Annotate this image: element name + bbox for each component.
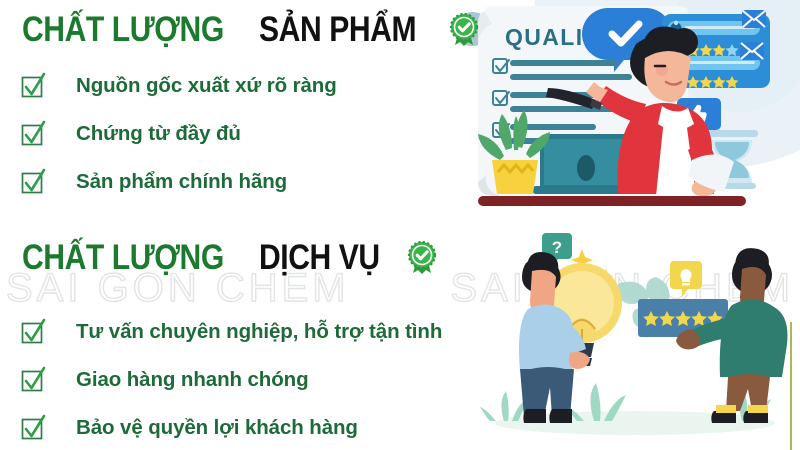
checkbox-check-icon bbox=[18, 413, 48, 443]
quality-checklist-woman-illustration: QUALITY bbox=[440, 0, 800, 222]
checkbox-check-icon bbox=[18, 71, 48, 101]
heading-green-text: CHẤT LƯỢNG bbox=[22, 12, 224, 47]
service-handshake-rating-illustration: ? bbox=[470, 225, 800, 450]
section-heading-product-quality: CHẤT LƯỢNG SẢN PHẨM bbox=[22, 12, 481, 47]
checkbox-check-icon bbox=[18, 365, 48, 395]
checkbox-check-icon bbox=[18, 167, 48, 197]
list-item-label: Nguồn gốc xuất xứ rõ ràng bbox=[76, 74, 337, 98]
heading-black-text: SẢN PHẨM bbox=[259, 12, 416, 47]
award-check-badge-icon bbox=[447, 13, 481, 47]
feature-list-service-quality: Tư vấn chuyên nghiệp, hỗ trợ tận tình Gi… bbox=[18, 308, 442, 450]
list-item-label: Chứng từ đầy đủ bbox=[76, 122, 241, 146]
feature-list-product-quality: Nguồn gốc xuất xứ rõ ràng Chứng từ đầy đ… bbox=[18, 62, 337, 206]
promo-banner: SAI GON CHEM SAI GON CHEM QUALITY bbox=[0, 0, 800, 450]
list-item-label: Giao hàng nhanh chóng bbox=[76, 368, 309, 392]
list-item: Sản phẩm chính hãng bbox=[18, 158, 337, 206]
heading-black-text: DỊCH VỤ bbox=[259, 240, 380, 275]
content-column: CHẤT LƯỢNG SẢN PHẨM Nguồn gốc xuất xứ rõ… bbox=[0, 0, 470, 450]
list-item-label: Sản phẩm chính hãng bbox=[76, 170, 287, 194]
list-item: Chứng từ đầy đủ bbox=[18, 110, 337, 158]
section-heading-service-quality: CHẤT LƯỢNG DỊCH VỤ bbox=[22, 240, 439, 275]
checkbox-check-icon bbox=[18, 119, 48, 149]
list-item: Tư vấn chuyên nghiệp, hỗ trợ tận tình bbox=[18, 308, 442, 356]
heading-green-text: CHẤT LƯỢNG bbox=[22, 240, 224, 275]
list-item-label: Tư vấn chuyên nghiệp, hỗ trợ tận tình bbox=[76, 320, 442, 344]
svg-text:?: ? bbox=[552, 238, 562, 257]
list-item-label: Bảo vệ quyền lợi khách hàng bbox=[76, 416, 358, 440]
checkbox-check-icon bbox=[18, 317, 48, 347]
envelope-icon-1 bbox=[742, 10, 766, 28]
list-item: Bảo vệ quyền lợi khách hàng bbox=[18, 404, 442, 450]
award-check-badge-icon bbox=[405, 241, 439, 275]
envelope-icon-2 bbox=[740, 42, 764, 60]
list-item: Nguồn gốc xuất xứ rõ ràng bbox=[18, 62, 337, 110]
idea-bubble-icon bbox=[670, 261, 702, 296]
list-item: Giao hàng nhanh chóng bbox=[18, 356, 442, 404]
right-edge-accent-line bbox=[790, 322, 792, 450]
